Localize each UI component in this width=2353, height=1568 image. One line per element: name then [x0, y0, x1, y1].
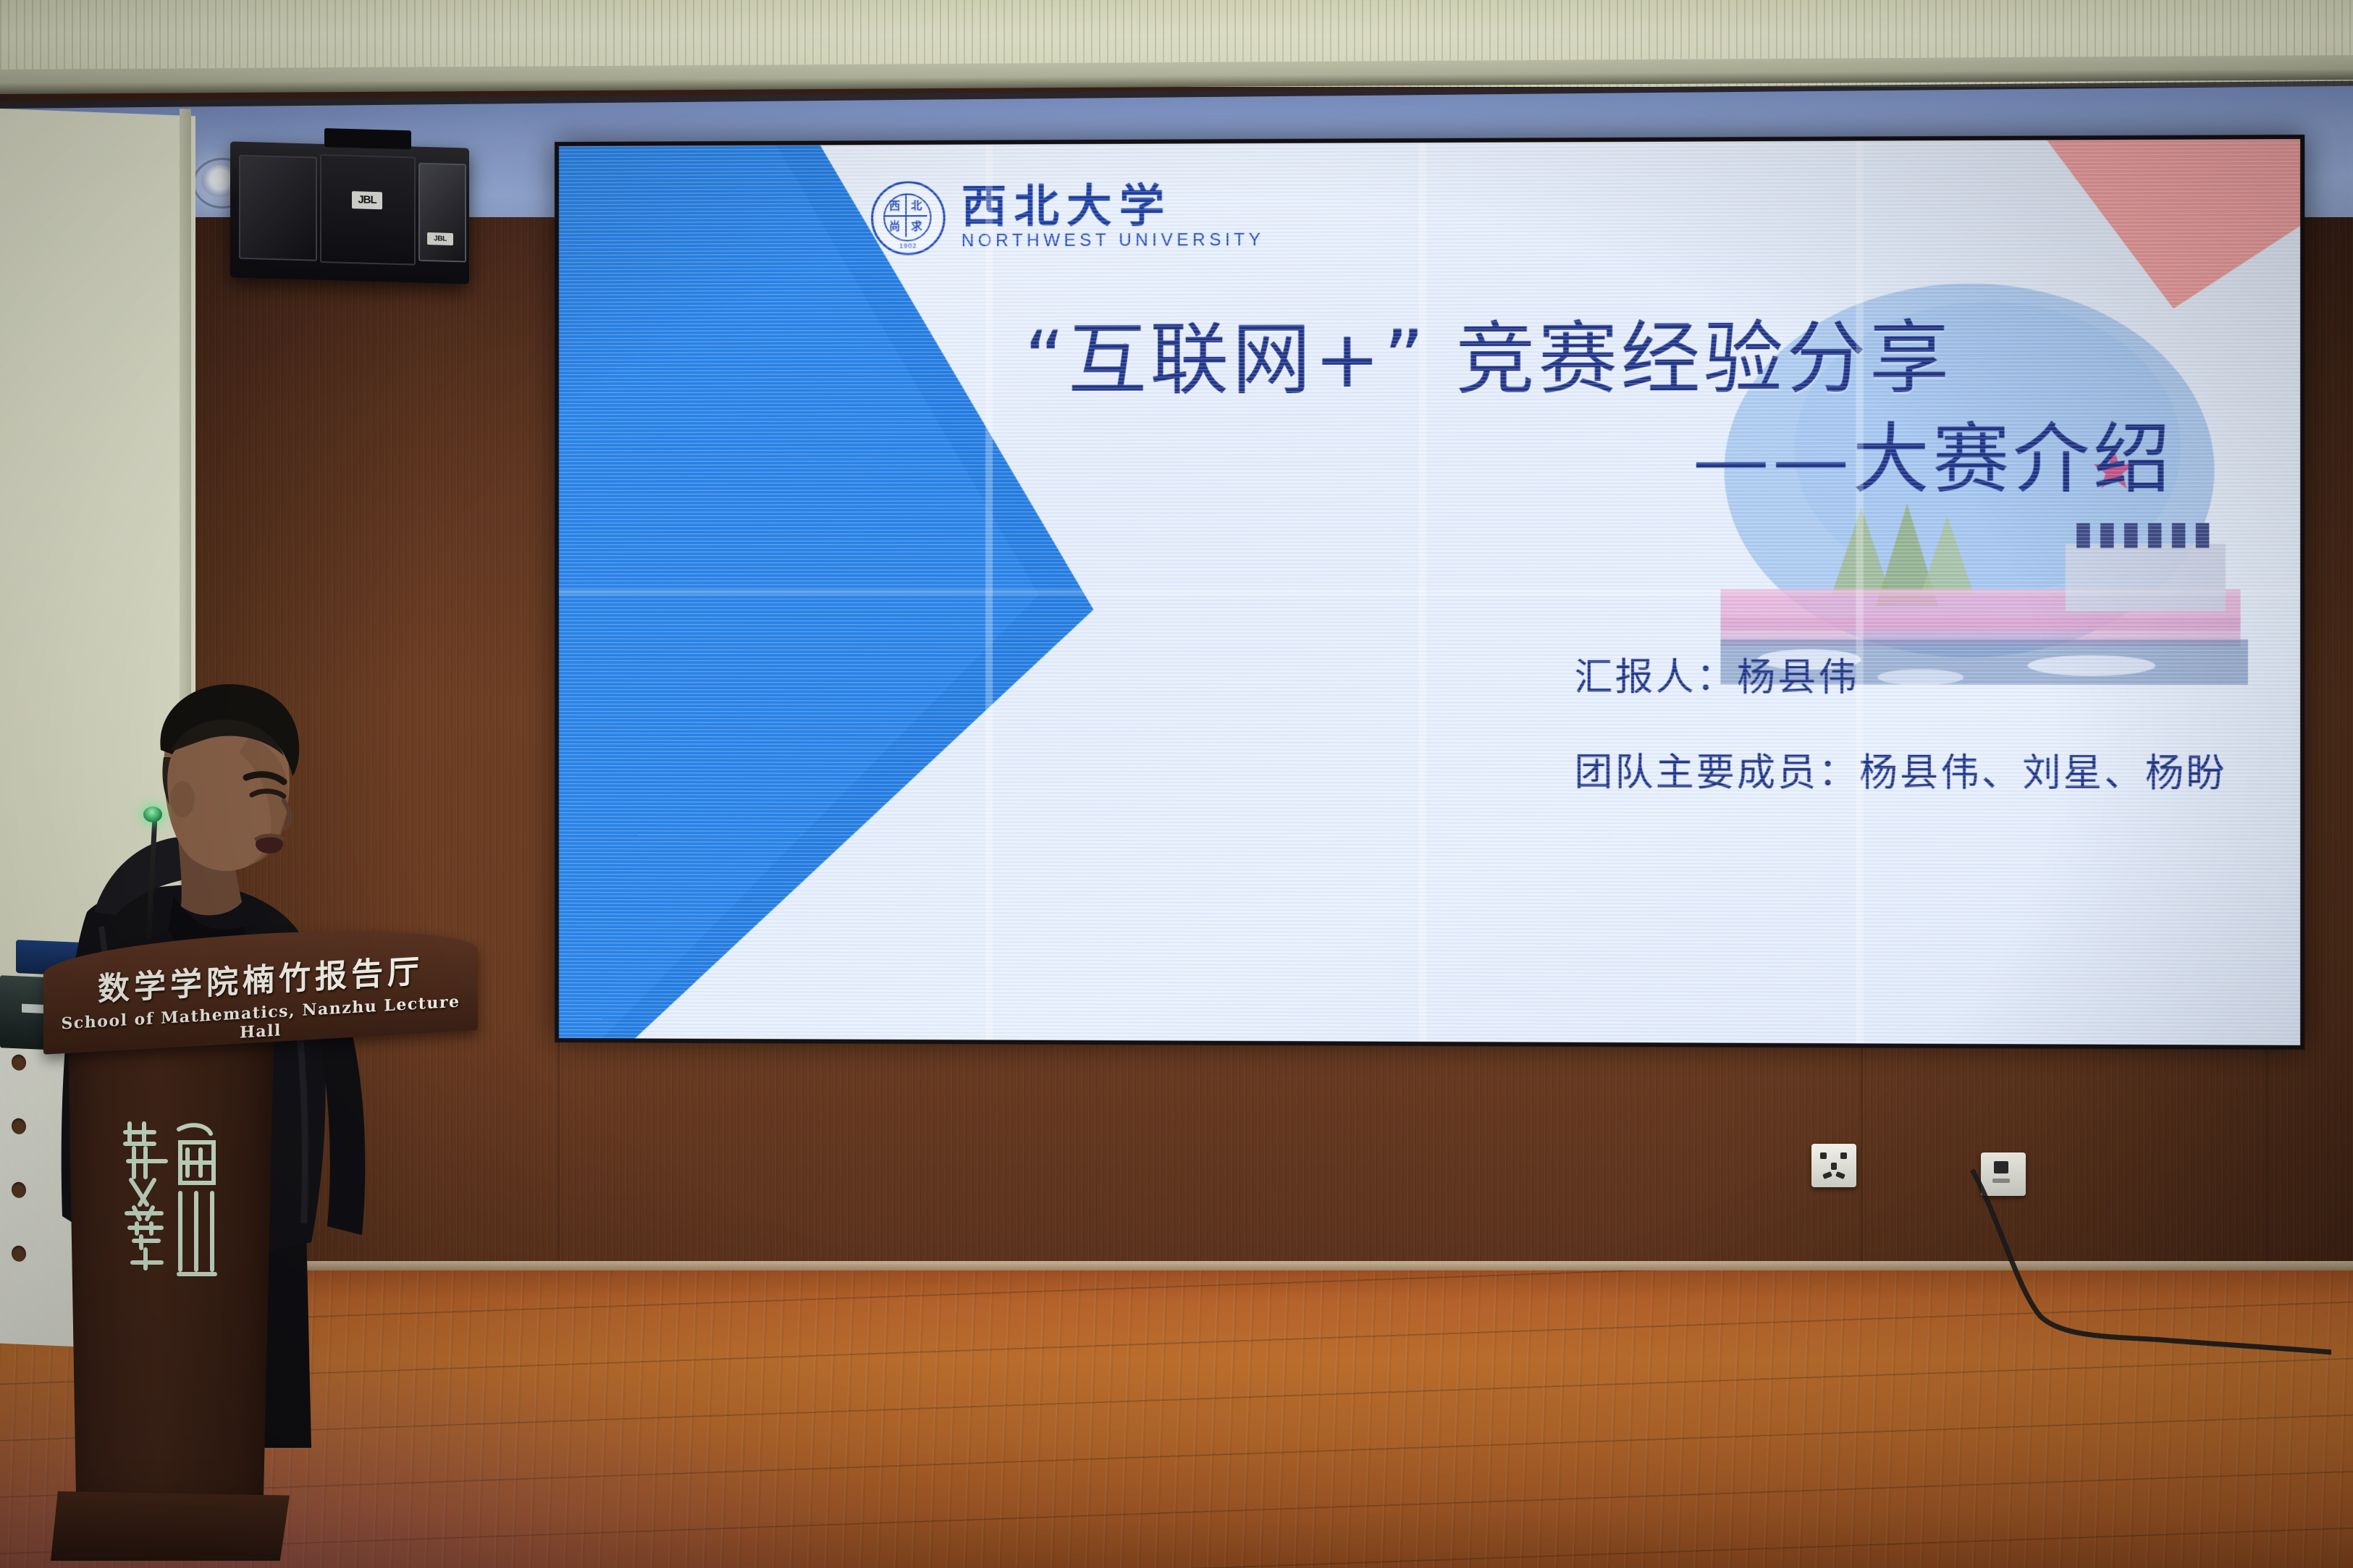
- slide-team-line: 团队主要成员：杨县伟、刘星、杨盼: [1575, 741, 2228, 797]
- seal-char: 尚: [889, 221, 900, 232]
- outlet-slot: [1822, 1171, 1832, 1179]
- power-cable: [1955, 1158, 2331, 1375]
- seal-char: 求: [911, 221, 922, 232]
- slide-title-main: “互联网+” 竞赛经验分享: [1024, 295, 1953, 410]
- university-seal-icon: 西 北 尚 求 1902: [871, 181, 946, 256]
- seal-divider: [885, 215, 927, 216]
- seal-char: 北: [911, 201, 922, 211]
- speaker-horn-left: [239, 155, 317, 261]
- seal-year: 1902: [873, 242, 943, 249]
- university-logo: 西 北 尚 求 1902 西北大学 NORTHWEST UNIVERSITY: [871, 180, 1264, 255]
- wall-speaker: JBL JBL: [230, 141, 469, 284]
- outlet-slot: [1820, 1152, 1827, 1159]
- blue-arrow-decoration: [559, 144, 1097, 1040]
- speaker-mount-bracket: [324, 128, 411, 149]
- power-outlet[interactable]: [1811, 1144, 1856, 1187]
- lecture-hall-photo: JBL JBL: [0, 0, 2353, 1568]
- seal-char: 西: [889, 201, 900, 211]
- logo-wordmark: 西北大学 NORTHWEST UNIVERSITY: [961, 183, 1265, 251]
- microphone-head-icon: [143, 806, 162, 822]
- podium-base: [51, 1491, 290, 1561]
- led-display-frame: 西 北 尚 求 1902 西北大学 NORTHWEST UNIVERSITY “…: [555, 135, 2304, 1050]
- speaker-brand-badge: JBL: [352, 191, 382, 209]
- led-display-screen[interactable]: 西 北 尚 求 1902 西北大学 NORTHWEST UNIVERSITY “…: [559, 139, 2300, 1045]
- lectern-podium: 数学学院楠竹报告厅 School of Mathematics, Nanzhu …: [43, 934, 478, 1568]
- speaker-driver-panel: [320, 154, 416, 266]
- school-seal-emblem-icon: [112, 1108, 228, 1296]
- speaker-brand-badge-small: JBL: [427, 232, 453, 245]
- slide-presenter-line: 汇报人：杨县伟: [1575, 646, 1859, 701]
- speaker-horn-right: [418, 163, 466, 263]
- outlet-slot: [1831, 1163, 1837, 1170]
- logo-name-en: NORTHWEST UNIVERSITY: [961, 230, 1265, 251]
- outlet-slot: [1840, 1152, 1847, 1159]
- slide-title-sub: ——大赛介绍: [1693, 397, 2173, 508]
- logo-name-cn: 西北大学: [961, 183, 1265, 229]
- outlet-slot: [1835, 1171, 1845, 1179]
